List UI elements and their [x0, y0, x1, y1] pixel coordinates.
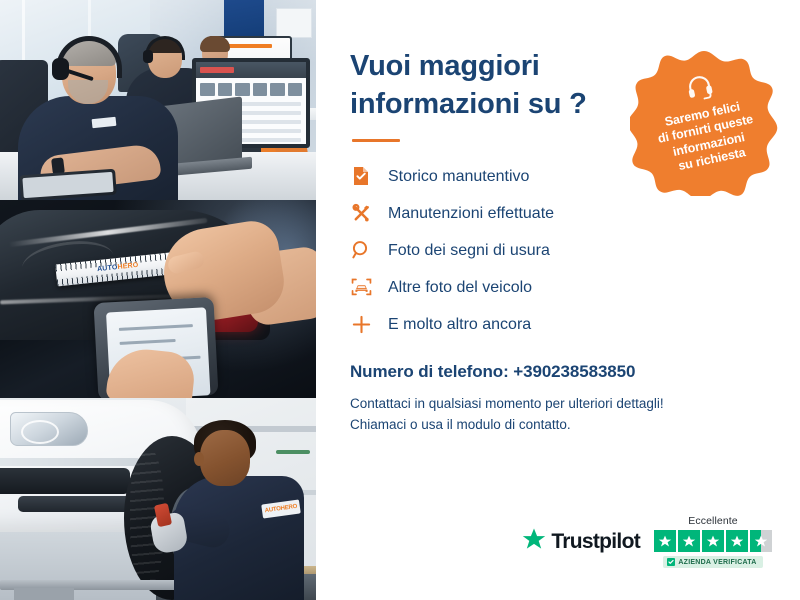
- contact-block: Numero di telefono: +390238583850 Contat…: [350, 362, 762, 436]
- list-item: E molto altro ancora: [350, 312, 762, 336]
- wall-sign: [276, 8, 312, 38]
- rating-star-filled: [678, 530, 700, 552]
- contact-description-line-1: Contattaci in qualsiasi momento per ulte…: [350, 394, 762, 415]
- photo-call-center: [0, 0, 316, 200]
- tools-cross-icon: [350, 202, 372, 224]
- agent-two-earcup: [143, 50, 153, 63]
- car-bumper-trim: [0, 458, 140, 466]
- rating-star-half: [750, 530, 772, 552]
- vehicle-lift-pad: [14, 588, 74, 600]
- car-headlight: [10, 412, 88, 446]
- car-grille-upper: [0, 468, 130, 494]
- list-item: Altre foto del veicolo: [350, 275, 762, 299]
- monitor-thumbnails: [200, 83, 302, 96]
- callout-badge: Saremo felici di fornirti queste informa…: [630, 48, 778, 196]
- car-grille-lower: [18, 496, 136, 512]
- rating-star-filled: [654, 530, 676, 552]
- photo-column: AUTOHERO: [0, 0, 316, 600]
- brand-hero: HERO: [117, 262, 139, 271]
- title-divider: [352, 139, 400, 142]
- photo-tire-check: AUTOHERO: [0, 398, 316, 600]
- mechanic-ear: [194, 452, 204, 466]
- photo-vehicle-inspection: AUTOHERO: [0, 200, 316, 398]
- trustpilot-widget[interactable]: Trustpilot Eccellente: [522, 515, 772, 568]
- starburst-shape-icon: [630, 48, 778, 196]
- mechanic-head: [200, 430, 250, 486]
- verified-company-label: AZIENDA VERIFICATA: [678, 559, 756, 566]
- brand-auto: AUTO: [97, 264, 118, 273]
- trustpilot-rating-label: Eccellente: [688, 515, 737, 527]
- trustpilot-rating: Eccellente: [654, 515, 772, 568]
- contact-description-line-2: Chiamaci o usa il modulo di contatto.: [350, 415, 762, 436]
- desk-tablet: [19, 169, 117, 200]
- feature-label: Foto dei segni di usura: [388, 241, 550, 260]
- check-square-icon: [667, 558, 675, 566]
- verified-company-badge: AZIENDA VERIFICATA: [663, 556, 762, 568]
- trustpilot-logo: Trustpilot: [522, 528, 640, 556]
- feature-label: Storico manutentivo: [388, 167, 529, 186]
- content-panel: Vuoi maggiori informazioni su ? Storico …: [316, 0, 800, 600]
- page-title: Vuoi maggiori informazioni su ?: [350, 48, 630, 123]
- rating-star-filled: [726, 530, 748, 552]
- rating-star-filled: [702, 530, 724, 552]
- magnifier-icon: [350, 239, 372, 261]
- contact-description: Contattaci in qualsiasi momento per ulte…: [350, 394, 762, 436]
- document-check-icon: [350, 165, 372, 187]
- plus-icon: [350, 313, 372, 335]
- feature-label: E molto altro ancora: [388, 315, 531, 334]
- feature-label: Altre foto del veicolo: [388, 278, 532, 297]
- headline-line-1: Vuoi maggiori: [350, 50, 540, 82]
- agent-three-hair: [200, 36, 230, 52]
- car-scan-icon: [350, 276, 372, 298]
- trustpilot-wordmark: Trustpilot: [551, 530, 640, 554]
- trustpilot-star-rating: [654, 530, 772, 552]
- headline-line-2: informazioni su ?: [350, 88, 587, 120]
- feature-label: Manutenzioni effettuate: [388, 204, 554, 223]
- trustpilot-star-icon: [522, 528, 546, 556]
- promo-card: AUTOHERO: [0, 0, 800, 600]
- monitor-app-header: [196, 62, 306, 78]
- list-item: Foto dei segni di usura: [350, 238, 762, 262]
- list-item: Manutenzioni effettuate: [350, 201, 762, 225]
- shelf-item-green: [276, 450, 310, 454]
- phone-number-title: Numero di telefono: +390238583850: [350, 362, 762, 382]
